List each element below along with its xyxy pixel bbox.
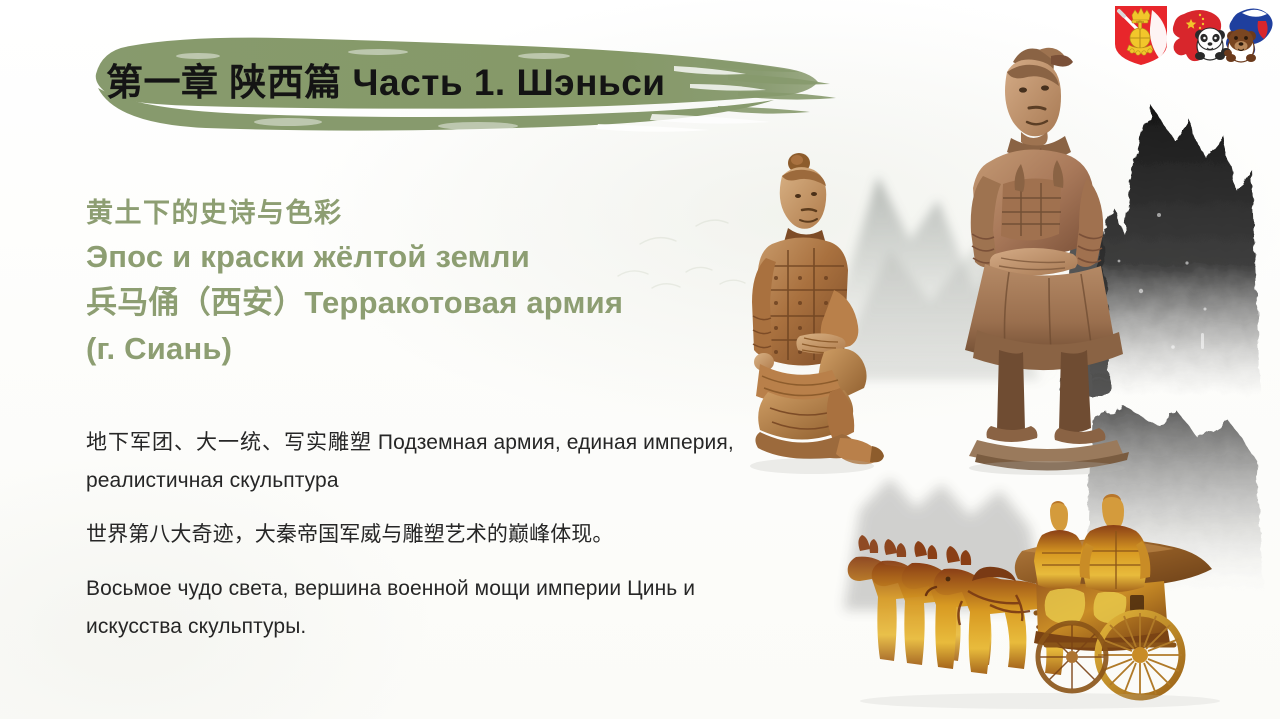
body-text-block: 地下军团、大一统、写实雕塑 Подземная армия, единая им… [86, 424, 766, 662]
heading-russian-1: Эпос и краски жёлтой земли [86, 234, 766, 280]
chariot-carriage [1015, 539, 1212, 651]
heading-line-2: 兵马俑（西安）Терракотовая армия [86, 280, 766, 326]
heading-block: 黄土下的史诗与色彩 Эпос и краски жёлтой земли 兵马俑… [86, 192, 766, 372]
ink-mountain-peak-dark [1055, 95, 1280, 425]
ink-wash-under-chariot [830, 470, 1080, 620]
standing-general-terracotta-warrior [955, 28, 1140, 478]
bronze-chariot-with-four-horses [840, 495, 1260, 710]
bear-figure [1226, 29, 1256, 62]
chariot-wheel-rear [1098, 613, 1182, 697]
chariot-wheel-front [1038, 623, 1106, 691]
heading-line-2-continuation: (г. Сиань) [86, 326, 766, 372]
paragraph-1: 地下军团、大一统、写实雕塑 Подземная армия, единая им… [86, 424, 766, 500]
paragraph-1-chinese: 地下军团、大一统、写实雕塑 [86, 431, 372, 454]
logo-group [1112, 4, 1274, 66]
vologda-oblast-coat-of-arms-icon [1112, 4, 1170, 66]
ink-wash-lower-right [1080, 400, 1280, 600]
panda-figure [1195, 28, 1225, 60]
paragraph-2-chinese: 世界第八大奇迹，大秦帝国军威与雕塑艺术的巅峰体现。 [86, 516, 766, 554]
heading-chinese-1: 黄土下的史诗与色彩 [86, 192, 766, 234]
panda-bear-friendship-mascot-icon [1178, 4, 1274, 64]
paragraph-2-russian: Восьмое чудо света, вершина военной мощи… [86, 570, 766, 646]
title-banner: 第一章 陕西篇 Часть 1. Шэньси [78, 30, 838, 138]
chariot-attendant-warriors [1034, 494, 1150, 592]
kneeling-archer-terracotta-warrior [742, 140, 942, 490]
slide-canvas: 第一章 陕西篇 Часть 1. Шэньси 黄土下的史诗与色彩 Эпос и… [0, 0, 1280, 719]
chariot-horse-group [848, 535, 1064, 675]
page-title: 第一章 陕西篇 Часть 1. Шэньси [106, 58, 826, 108]
